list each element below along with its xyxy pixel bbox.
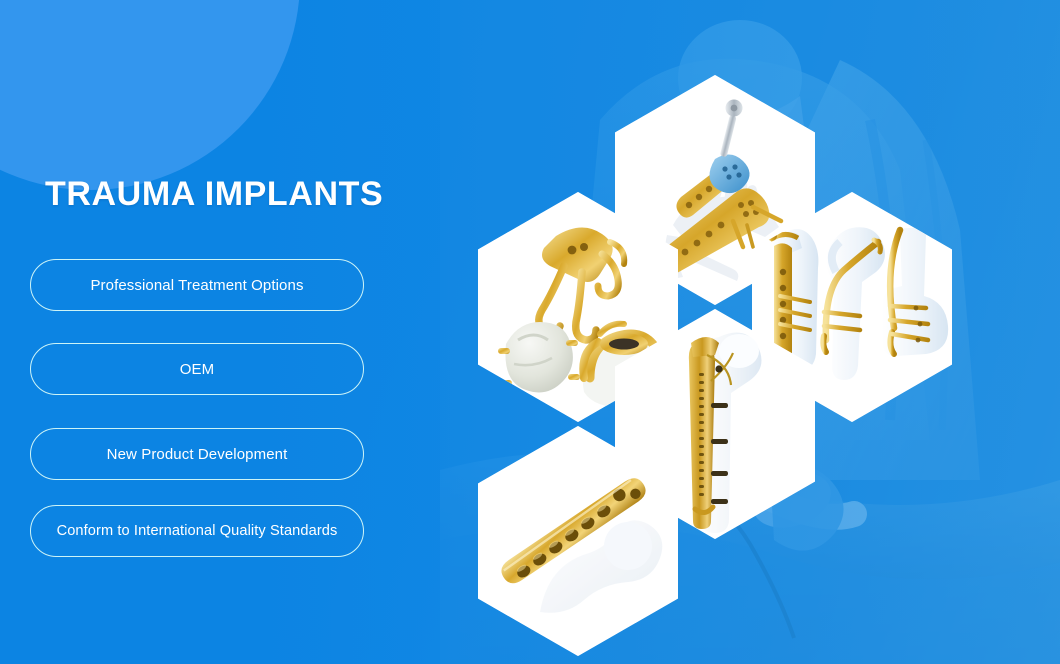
- left-content-column: TRAUMA IMPLANTS Professional Treatment O…: [0, 0, 420, 664]
- feature-pill-conform-to-international-quality-standards[interactable]: Conform to International Quality Standar…: [30, 505, 364, 557]
- feature-pill-label: Conform to International Quality Standar…: [57, 523, 338, 539]
- trauma-implants-banner: TRAUMA IMPLANTS Professional Treatment O…: [0, 0, 1060, 664]
- hexagon-product-gallery: [430, 60, 1060, 630]
- feature-pill-label: New Product Development: [107, 446, 288, 463]
- feature-pill-oem[interactable]: OEM: [30, 343, 364, 395]
- feature-pill-label: Professional Treatment Options: [90, 277, 303, 294]
- feature-pill-new-product-development[interactable]: New Product Development: [30, 428, 364, 480]
- feature-pill-professional-treatment-options[interactable]: Professional Treatment Options: [30, 259, 364, 311]
- page-title: TRAUMA IMPLANTS: [45, 177, 383, 211]
- feature-pill-label: OEM: [180, 361, 214, 378]
